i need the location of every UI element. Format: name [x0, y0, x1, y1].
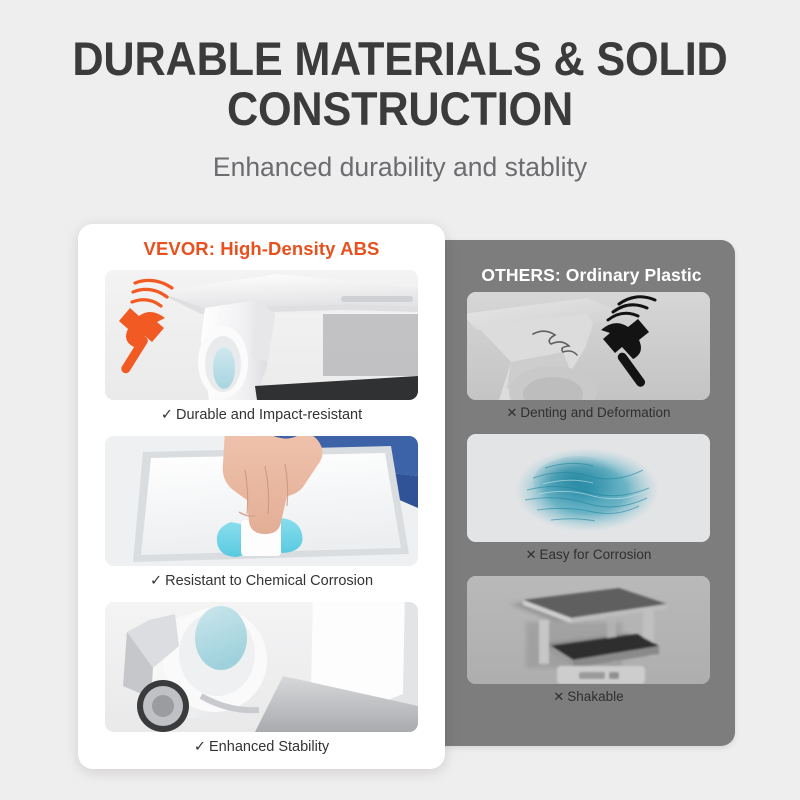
cross-icon: ✕ [507, 405, 518, 420]
vevor-card: VEVOR: High-Density ABS [78, 224, 445, 769]
caster-base-illustration [105, 602, 418, 732]
header: DURABLE MATERIALS & SOLID CONSTRUCTION E… [0, 34, 800, 182]
others-caption-text: Shakable [567, 689, 623, 704]
easy-for-corrosion-image [467, 434, 710, 542]
vevor-item-caption: ✓Enhanced Stability [105, 732, 418, 762]
vevor-item-caption: ✓Resistant to Chemical Corrosion [105, 566, 418, 596]
others-item-caption: ✕Denting and Deformation [467, 400, 710, 426]
hammer-cracking-plastic-illustration [467, 292, 710, 400]
page-title: DURABLE MATERIALS & SOLID CONSTRUCTION [69, 34, 731, 134]
vevor-item-caption: ✓Durable and Impact-resistant [105, 400, 418, 430]
others-item-caption: ✕Shakable [467, 684, 710, 710]
others-heading: OTHERS: Ordinary Plastic [448, 265, 735, 286]
durable-impact-resistant-image [105, 270, 418, 400]
resistant-chemical-corrosion-image [105, 436, 418, 566]
vevor-list-item: ✓Resistant to Chemical Corrosion [105, 436, 418, 596]
vevor-list-item: ✓Durable and Impact-resistant [105, 270, 418, 430]
vevor-list-item: ✓Enhanced Stability [105, 602, 418, 762]
others-caption-text: Denting and Deformation [520, 405, 670, 420]
vevor-caption-text: Resistant to Chemical Corrosion [165, 573, 373, 589]
check-icon: ✓ [194, 739, 206, 755]
others-list-item: ✕Denting and Deformation [467, 292, 710, 426]
blurred-shaking-cart-illustration [467, 576, 710, 684]
others-list-item: ✕Easy for Corrosion [467, 434, 710, 568]
others-caption-text: Easy for Corrosion [540, 547, 652, 562]
shakable-image [467, 576, 710, 684]
cross-icon: ✕ [526, 547, 537, 562]
vevor-caption-text: Enhanced Stability [209, 739, 329, 755]
infographic-page: DURABLE MATERIALS & SOLID CONSTRUCTION E… [0, 0, 800, 800]
others-item-caption: ✕Easy for Corrosion [467, 542, 710, 568]
page-title-line2: CONSTRUCTION [69, 84, 731, 134]
cross-icon: ✕ [553, 689, 564, 704]
page-title-line1: DURABLE MATERIALS & SOLID [72, 32, 727, 85]
enhanced-stability-image [105, 602, 418, 732]
vevor-item-list: ✓Durable and Impact-resistant [105, 270, 418, 768]
hand-wiping-tray-illustration [105, 436, 418, 566]
check-icon: ✓ [161, 407, 173, 423]
teal-corrosion-stain-illustration [467, 434, 710, 542]
vevor-heading: VEVOR: High-Density ABS [78, 238, 445, 260]
others-list-item: ✕Shakable [467, 576, 710, 710]
others-item-list: ✕Denting and Deformation [467, 292, 710, 718]
vevor-caption-text: Durable and Impact-resistant [176, 407, 362, 423]
hammer-striking-appliance-illustration [105, 270, 418, 400]
check-icon: ✓ [150, 573, 162, 589]
denting-and-deformation-image [467, 292, 710, 400]
page-subtitle: Enhanced durability and stablity [0, 152, 800, 182]
